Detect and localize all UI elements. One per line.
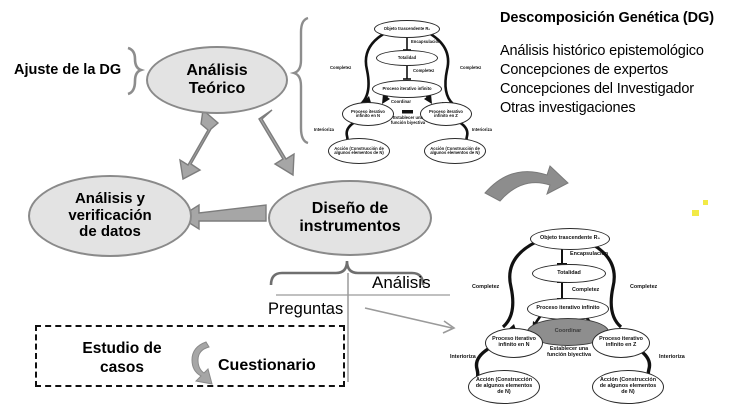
artifact-speck bbox=[692, 210, 699, 216]
dg-label-interioriza-left: Interioriza bbox=[450, 355, 476, 361]
node-analisis-verificacion-datos[interactable]: Análisis y verificación de datos bbox=[28, 175, 192, 257]
node-label-line: de datos bbox=[79, 224, 141, 241]
dg-node-objeto: Objeto trascendente R₀ bbox=[374, 20, 440, 38]
legend-title: Descomposición Genética (DG) bbox=[500, 10, 733, 26]
node-label-line: Análisis y bbox=[75, 191, 145, 208]
label-estudio-line2: casos bbox=[72, 358, 172, 377]
brace-left-icon bbox=[128, 48, 141, 94]
label-cuestionario: Cuestionario bbox=[218, 357, 316, 375]
dg-label-encapsulacion: Encapsulación bbox=[411, 40, 441, 45]
dg-label-biyectiva: Establecer una función biyectiva bbox=[387, 116, 429, 125]
diagram-canvas: Análisis Teórico Análisis y verificación… bbox=[0, 0, 733, 411]
dg-label-coordinar: Coordinar bbox=[391, 100, 411, 105]
dg-label-completez-left: Completez bbox=[472, 285, 499, 291]
arrow-teorico-diseno bbox=[259, 110, 294, 175]
node-label-line: instrumentos bbox=[299, 218, 400, 236]
dg-node-proceso-z: Proceso iterativo infinito en Z bbox=[592, 328, 650, 358]
arrow-curved-to-dg bbox=[485, 166, 568, 201]
label-analisis-link: Análisis bbox=[372, 273, 431, 293]
dg-node-proceso-n: Proceso iterativo infinito en N bbox=[485, 328, 543, 358]
dg-node-totalidad: Totalidad bbox=[532, 264, 606, 283]
node-diseno-instrumentos[interactable]: Diseño de instrumentos bbox=[268, 180, 432, 256]
arrow-diseno-datos bbox=[180, 205, 266, 229]
dg-node-accion-n: Acción (Construcción de algunos elemento… bbox=[468, 370, 540, 404]
legend-item: Concepciones del Investigador bbox=[500, 80, 733, 99]
node-label-line: Diseño de bbox=[312, 200, 388, 218]
label-estudio-line1: Estudio de bbox=[72, 339, 172, 358]
artifact-speck bbox=[703, 200, 708, 205]
node-label-line: verificación bbox=[68, 208, 151, 225]
dg-node-accion-z: Acción (Construcción de algunos elemento… bbox=[592, 370, 664, 404]
dg-label-completez-right: Completez bbox=[630, 285, 657, 291]
dg-node-accion-n: Acción (Construcción de algunos elemento… bbox=[328, 138, 390, 164]
dg-label-completez-left: Completez bbox=[330, 66, 351, 71]
dg-label-encapsulacion: Encapsulación bbox=[570, 252, 608, 258]
dg-label-biyectiva: Establecer una función biyectiva bbox=[545, 347, 593, 359]
label-preguntas: Preguntas bbox=[268, 300, 343, 319]
dg-node-proceso-infinito: Proceso iterativo infinito bbox=[527, 298, 609, 320]
dg-node-objeto: Objeto trascendente R₀ bbox=[530, 228, 610, 250]
legend-item: Concepciones de expertos bbox=[500, 61, 733, 80]
brace-dg-icon bbox=[294, 18, 308, 143]
label-estudio-de-casos: Estudio de casos bbox=[72, 339, 172, 378]
arrow-analisis-to-dg bbox=[365, 308, 454, 333]
dg-label-interioriza-right: Interioriza bbox=[472, 128, 492, 133]
node-analisis-teorico[interactable]: Análisis Teórico bbox=[146, 46, 288, 114]
dg-node-totalidad: Totalidad bbox=[376, 50, 438, 66]
legend-item: Otras investigaciones bbox=[500, 99, 733, 118]
node-label-line: Análisis bbox=[186, 62, 247, 80]
dg-label-interioriza-right: Interioriza bbox=[659, 355, 685, 361]
dg-label-completez-right: Completez bbox=[460, 66, 481, 71]
dg-label-completez-mid: Completez bbox=[572, 288, 599, 294]
legend-item: Análisis histórico epistemológico bbox=[500, 42, 733, 61]
dg-diagram-large: Objeto trascendente R₀ Encapsulación Tot… bbox=[450, 220, 733, 411]
dg-label-interioriza-left: Interioriza bbox=[314, 128, 334, 133]
label-ajuste-dg: Ajuste de la DG bbox=[14, 62, 121, 78]
dg-node-proceso-infinito: Proceso iterativo infinito bbox=[372, 80, 442, 98]
dg-node-accion-z: Acción (Construcción de algunos elemento… bbox=[424, 138, 486, 164]
dg-label-completez-mid: Completez bbox=[413, 69, 434, 74]
node-label-line: Teórico bbox=[189, 80, 246, 98]
arrow-teorico-datos bbox=[180, 110, 218, 179]
legend-descomposicion-genetica: Descomposición Genética (DG) Análisis hi… bbox=[500, 10, 733, 117]
dg-diagram-small: Objeto trascendente R₀ Encapsulación Tot… bbox=[312, 10, 502, 168]
